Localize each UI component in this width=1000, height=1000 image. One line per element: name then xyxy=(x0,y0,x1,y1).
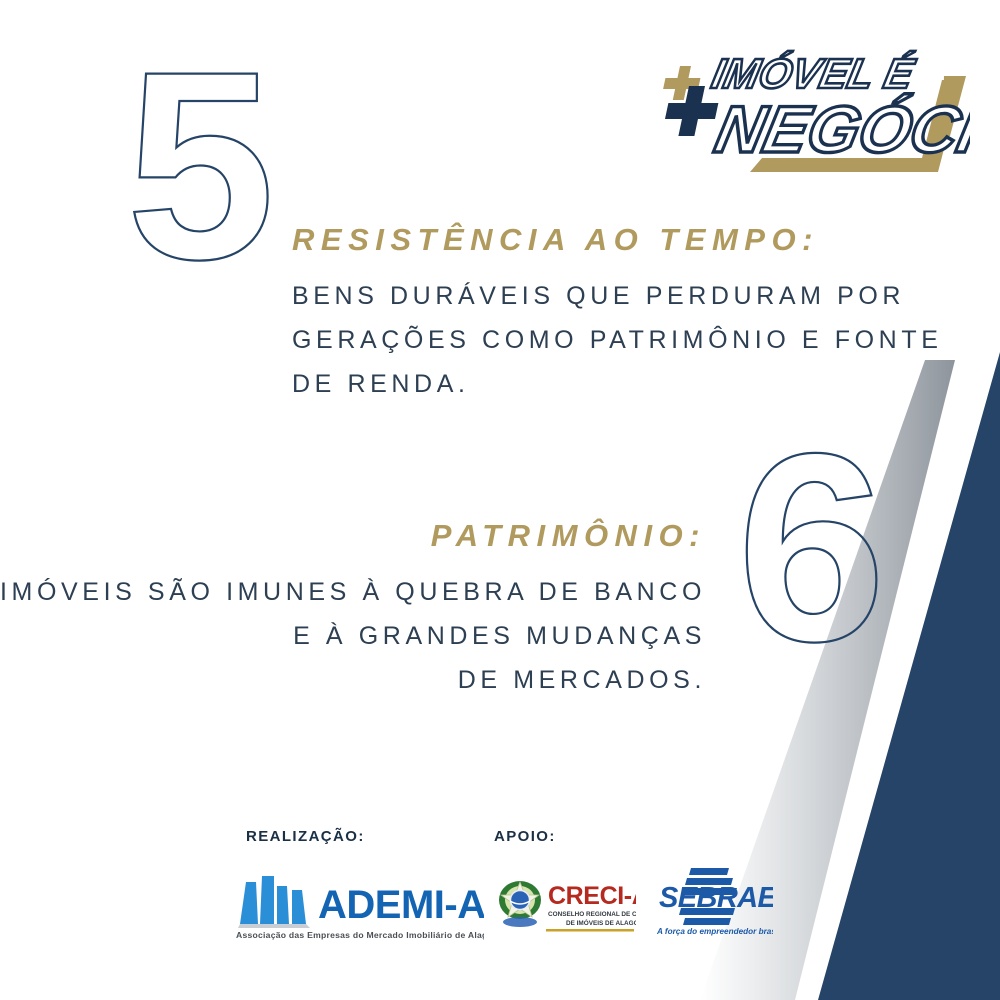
item-6-line-3: DE MERCADOS. xyxy=(0,658,706,702)
numeral-6-text: 6 xyxy=(737,397,886,697)
creci-name: CRECI-AL xyxy=(548,882,636,910)
ademi-name: ADEMI-AL xyxy=(318,883,484,927)
item-5-line-2: GERAÇÕES COMO PATRIMÔNIO E FONTE xyxy=(292,318,942,362)
numeral-5-text: 5 xyxy=(126,15,275,315)
creci-logo: CRECI-AL CONSELHO REGIONAL DE CORRETORES… xyxy=(496,874,636,936)
logo-line2: NEGÓCIO xyxy=(709,94,970,167)
item-5-line-1: BENS DURÁVEIS QUE PERDURAM POR xyxy=(292,274,942,318)
sebrae-tagline: A força do empreendedor brasileiro. xyxy=(656,927,773,936)
item-block-5: RESISTÊNCIA AO TEMPO: BENS DURÁVEIS QUE … xyxy=(292,222,942,406)
apoio-label: APOIO: xyxy=(494,828,556,845)
ademi-building-icon xyxy=(238,876,310,928)
creci-subtitle-1: CONSELHO REGIONAL DE CORRETORES xyxy=(548,911,636,918)
brazil-coat-of-arms-icon xyxy=(499,881,541,927)
brand-logo: IMÓVEL É NEGÓCIO xyxy=(650,40,970,180)
item-number-5: 5 xyxy=(118,46,308,286)
item-5-line-3: DE RENDA. xyxy=(292,362,942,406)
logo-line1: IMÓVEL É xyxy=(708,50,919,96)
ademi-tagline: Associação das Empresas do Mercado Imobi… xyxy=(236,930,484,940)
poster-canvas: 5 6 IMÓVEL É NEGÓCIO xyxy=(0,0,1000,1000)
item-block-6: PATRIMÔNIO: IMÓVEIS SÃO IMUNES À QUEBRA … xyxy=(0,518,706,702)
ademi-logo: ADEMI-AL Associação das Empresas do Merc… xyxy=(234,868,484,940)
item-6-heading: PATRIMÔNIO: xyxy=(0,518,706,554)
realizacao-label: REALIZAÇÃO: xyxy=(246,828,365,845)
footer: REALIZAÇÃO: APOIO: ADEMI-AL Associação d… xyxy=(0,820,1000,960)
item-6-line-1: IMÓVEIS SÃO IMUNES À QUEBRA DE BANCO xyxy=(0,570,706,614)
apoio-group: APOIO: xyxy=(494,828,556,859)
item-number-6: 6 xyxy=(733,428,923,668)
sebrae-name: SEBRAE xyxy=(659,882,773,914)
realizacao-group: REALIZAÇÃO: xyxy=(246,828,365,859)
item-5-heading: RESISTÊNCIA AO TEMPO: xyxy=(292,222,942,258)
sebrae-logo: SEBRAE A força do empreendedor brasileir… xyxy=(653,864,773,936)
creci-subtitle-2: DE IMÓVEIS DE ALAGOAS xyxy=(566,918,636,927)
item-6-line-2: E À GRANDES MUDANÇAS xyxy=(0,614,706,658)
